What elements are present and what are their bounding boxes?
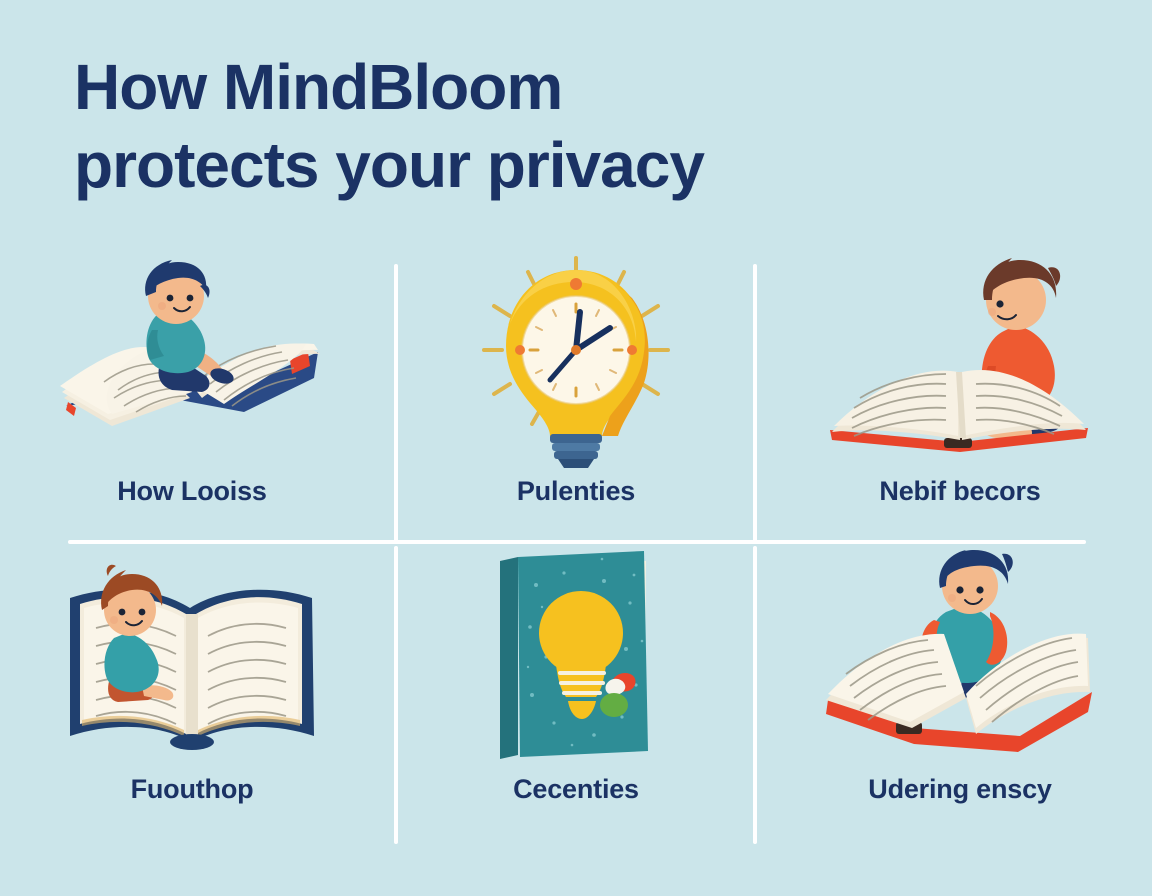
teal-book-lightbulb-icon: [384, 542, 768, 770]
feature-caption-1: How Looiss: [117, 476, 267, 507]
feature-caption-6: Udering enscy: [868, 774, 1051, 805]
page-title: How MindBloom protects your privacy: [74, 48, 954, 204]
feature-caption-3: Nebif becors: [879, 476, 1040, 507]
boy-inside-book-icon: [0, 542, 384, 770]
feature-cell-6[interactable]: Udering enscy: [768, 542, 1152, 842]
feature-grid: How Looiss: [0, 252, 1152, 842]
page-title-line-1: How MindBloom: [74, 48, 954, 126]
lightbulb-clock-icon: [384, 252, 768, 470]
boy-reading-book-icon: [768, 252, 1152, 470]
feature-cell-3[interactable]: Nebif becors: [768, 252, 1152, 542]
boy-on-red-book-icon: [768, 542, 1152, 770]
feature-cell-1[interactable]: How Looiss: [0, 252, 384, 542]
feature-caption-4: Fuouthop: [131, 774, 254, 805]
feature-caption-5: Cecenties: [513, 774, 639, 805]
page-title-line-2: protects your privacy: [74, 126, 954, 204]
infographic-page: How MindBloom protects your privacy: [0, 0, 1152, 896]
feature-caption-2: Pulenties: [517, 476, 635, 507]
feature-cell-4[interactable]: Fuouthop: [0, 542, 384, 842]
feature-cell-2[interactable]: Pulenties: [384, 252, 768, 542]
boy-on-book-icon: [0, 252, 384, 470]
feature-grid-row-1: How Looiss: [0, 252, 1152, 542]
feature-grid-row-2: Fuouthop: [0, 542, 1152, 842]
feature-cell-5[interactable]: Cecenties: [384, 542, 768, 842]
